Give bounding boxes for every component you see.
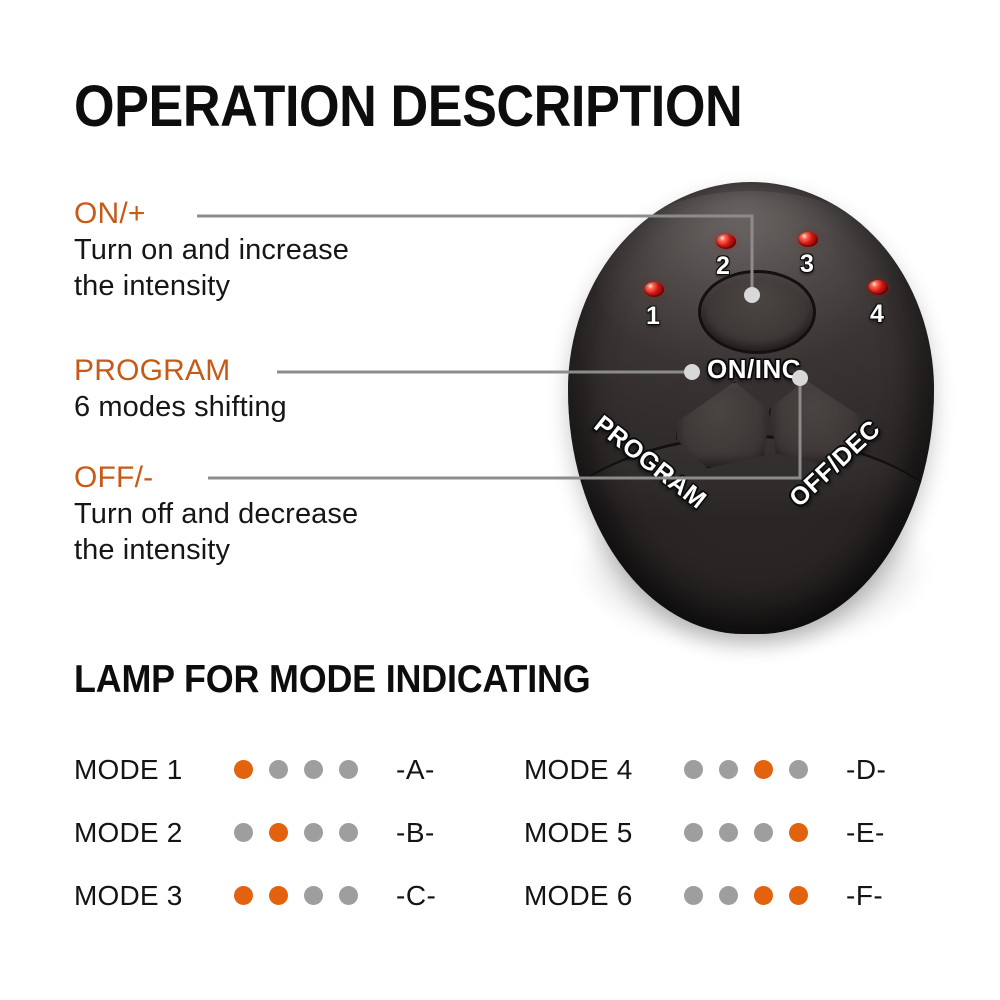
mode-lamp-1-on bbox=[234, 886, 253, 905]
section-heading-lamp-mode: LAMP FOR MODE INDICATING bbox=[74, 660, 590, 699]
on-inc-button[interactable] bbox=[698, 270, 816, 354]
mode-lamp-4-on bbox=[789, 823, 808, 842]
annotation-program-key: PROGRAM bbox=[74, 355, 287, 387]
mode-label: MODE 6 bbox=[524, 880, 684, 912]
led-indicator-2 bbox=[716, 234, 736, 249]
mode-code: -B- bbox=[396, 817, 435, 849]
led-indicator-3 bbox=[798, 232, 818, 247]
mode-label: MODE 4 bbox=[524, 754, 684, 786]
mode-code: -A- bbox=[396, 754, 435, 786]
mode-code: -F- bbox=[846, 880, 883, 912]
mode-lamp-2-on bbox=[269, 823, 288, 842]
annotation-on: ON/+ Turn on and increase the intensity bbox=[74, 198, 349, 305]
mode-lamp-3-off bbox=[754, 823, 773, 842]
mode-lamp-2-off bbox=[719, 760, 738, 779]
mode-lamp-group bbox=[684, 886, 824, 905]
mode-lamp-group bbox=[684, 760, 824, 779]
mode-lamp-4-off bbox=[339, 886, 358, 905]
page-title: OPERATION DESCRIPTION bbox=[74, 78, 742, 136]
on-inc-button-label: ON/INC bbox=[688, 354, 820, 385]
mode-row: MODE 2-B- bbox=[74, 801, 474, 864]
led-indicator-4 bbox=[868, 280, 888, 295]
mode-code: -C- bbox=[396, 880, 436, 912]
led-indicator-1 bbox=[644, 282, 664, 297]
mode-label: MODE 1 bbox=[74, 754, 234, 786]
mode-lamp-1-off bbox=[684, 823, 703, 842]
mode-lamp-3-off bbox=[304, 886, 323, 905]
mode-lamp-3-on bbox=[754, 886, 773, 905]
annotation-off-desc-line1: Turn off and decrease bbox=[74, 496, 358, 533]
led-number-1: 1 bbox=[646, 304, 660, 329]
device-body: 1 2 3 4 ON/INC PROGRAM OFF/DEC bbox=[568, 182, 934, 634]
mode-lamp-1-on bbox=[234, 760, 253, 779]
led-number-4: 4 bbox=[870, 302, 884, 327]
mode-label: MODE 2 bbox=[74, 817, 234, 849]
mode-row: MODE 1-A- bbox=[74, 738, 474, 801]
device-illustration: 1 2 3 4 ON/INC PROGRAM OFF/DEC bbox=[556, 182, 946, 652]
mode-lamp-4-off bbox=[789, 760, 808, 779]
mode-lamp-4-on bbox=[789, 886, 808, 905]
mode-lamp-2-off bbox=[719, 823, 738, 842]
mode-lamp-2-off bbox=[269, 760, 288, 779]
mode-lamp-2-off bbox=[719, 886, 738, 905]
mode-lamp-3-on bbox=[754, 760, 773, 779]
annotation-off-desc-line2: the intensity bbox=[74, 532, 358, 569]
mode-row: MODE 5-E- bbox=[524, 801, 924, 864]
mode-lamp-group bbox=[234, 760, 374, 779]
mode-lamp-3-off bbox=[304, 823, 323, 842]
mode-code: -E- bbox=[846, 817, 885, 849]
mode-row: MODE 3-C- bbox=[74, 864, 474, 927]
annotation-on-desc-line1: Turn on and increase bbox=[74, 232, 349, 269]
mode-row: MODE 4-D- bbox=[524, 738, 924, 801]
mode-lamp-1-off bbox=[684, 760, 703, 779]
mode-label: MODE 3 bbox=[74, 880, 234, 912]
mode-lamp-4-off bbox=[339, 823, 358, 842]
annotation-off: OFF/- Turn off and decrease the intensit… bbox=[74, 462, 358, 569]
mode-lamp-group bbox=[234, 823, 374, 842]
mode-code: -D- bbox=[846, 754, 886, 786]
annotation-on-desc-line2: the intensity bbox=[74, 268, 349, 305]
mode-lamp-group bbox=[234, 886, 374, 905]
mode-column-left: MODE 1-A-MODE 2-B-MODE 3-C- bbox=[74, 738, 474, 927]
mode-lamp-3-off bbox=[304, 760, 323, 779]
mode-lamp-1-off bbox=[234, 823, 253, 842]
mode-lamp-1-off bbox=[684, 886, 703, 905]
annotation-on-key: ON/+ bbox=[74, 198, 349, 230]
mode-lamp-4-off bbox=[339, 760, 358, 779]
led-number-3: 3 bbox=[800, 252, 814, 277]
device-seam-line bbox=[568, 435, 934, 634]
mode-row: MODE 6-F- bbox=[524, 864, 924, 927]
mode-lamp-group bbox=[684, 823, 824, 842]
annotation-off-key: OFF/- bbox=[74, 462, 358, 494]
mode-lamp-2-on bbox=[269, 886, 288, 905]
annotation-program-desc-line1: 6 modes shifting bbox=[74, 389, 287, 426]
mode-column-right: MODE 4-D-MODE 5-E-MODE 6-F- bbox=[524, 738, 924, 927]
mode-label: MODE 5 bbox=[524, 817, 684, 849]
annotation-program: PROGRAM 6 modes shifting bbox=[74, 355, 287, 425]
